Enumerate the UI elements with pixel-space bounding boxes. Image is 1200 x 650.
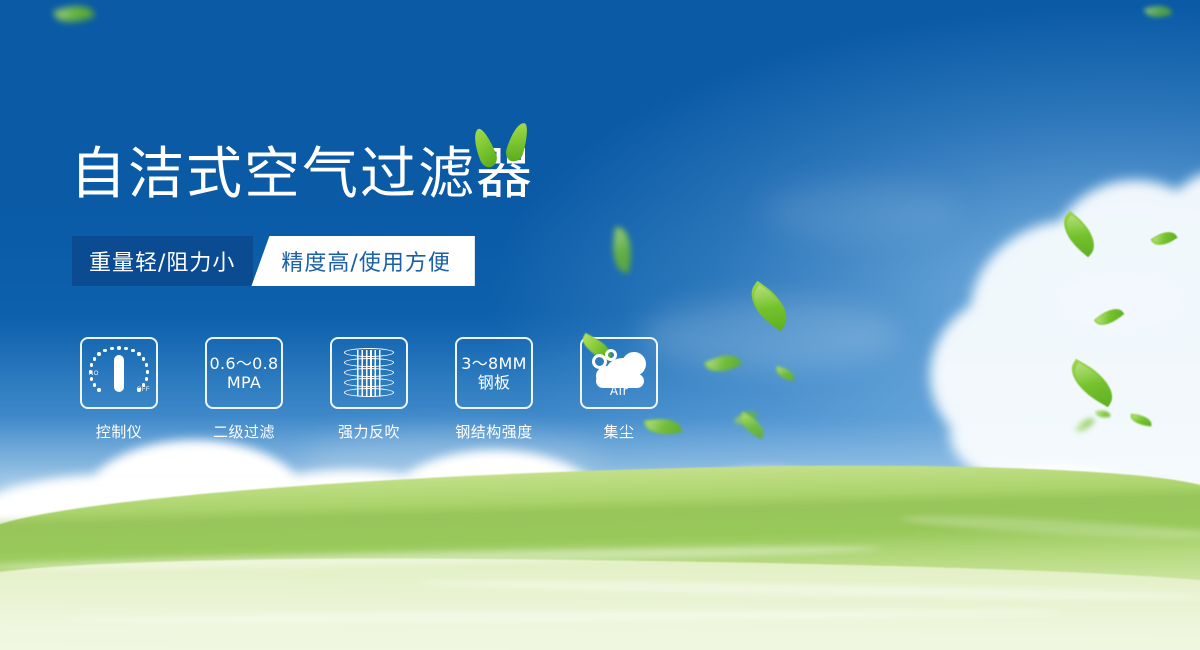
feature-icon-box <box>330 337 408 409</box>
air-cloud-icon: Air <box>590 348 648 398</box>
feature-icon-box: Air <box>580 337 658 409</box>
subtitle-badge-right: 精度高/使用方便 <box>251 236 474 286</box>
sky-wisp <box>760 180 960 240</box>
air-label: Air <box>590 384 648 398</box>
pressure-value: 0.6～0.8 <box>210 354 279 373</box>
feature-item-filtration: 0.6～0.8 MPA 二级过滤 <box>205 337 283 442</box>
sprout-leaves-icon <box>473 112 537 170</box>
feature-label: 控制仪 <box>96 421 143 442</box>
feature-list: NO OFF 控制仪 0.6～0.8 MPA 二级过滤 <box>80 337 658 442</box>
steel-material: 钢板 <box>461 373 526 392</box>
feature-icon-box: 0.6～0.8 MPA <box>205 337 283 409</box>
page-title: 自洁式空气过滤器 <box>70 140 534 210</box>
feature-label: 强力反吹 <box>338 421 400 442</box>
feature-label: 二级过滤 <box>213 421 275 442</box>
dial-label-on: NO <box>89 371 99 377</box>
subtitle-badge-left: 重量轻/阻力小 <box>72 236 253 286</box>
product-banner: 自洁式空气过滤器 重量轻/阻力小 精度高/使用方便 <box>0 0 1200 650</box>
subtitle-badge-bar: 重量轻/阻力小 精度高/使用方便 <box>72 236 475 286</box>
feature-item-steel: 3～8MM 钢板 钢结构强度 <box>455 337 533 442</box>
pressure-unit: MPA <box>210 373 279 392</box>
feature-label: 集尘 <box>603 421 634 442</box>
feature-item-backblow: 强力反吹 <box>330 337 408 442</box>
feature-icon-box: NO OFF <box>80 337 158 409</box>
coil-spring-icon <box>344 346 394 400</box>
feature-icon-box: 3～8MM 钢板 <box>455 337 533 409</box>
feature-label: 钢结构强度 <box>455 421 533 442</box>
dial-label-off: OFF <box>137 387 150 393</box>
feature-item-controller: NO OFF 控制仪 <box>80 337 158 442</box>
steel-thickness: 3～8MM <box>461 354 526 373</box>
steel-text-icon: 3～8MM 钢板 <box>461 354 526 392</box>
pressure-text-icon: 0.6～0.8 MPA <box>210 354 279 392</box>
dial-gauge-icon: NO OFF <box>90 346 148 400</box>
